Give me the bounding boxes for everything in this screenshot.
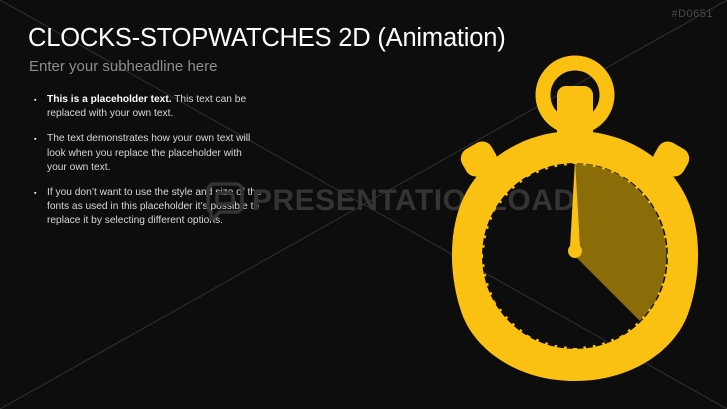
bullet-text: If you don’t want to use the style and s… <box>47 186 264 229</box>
bullet-marker-icon: ▪ <box>34 93 47 121</box>
bullet-text: This is a placeholder text. This text ca… <box>47 93 264 121</box>
bullet-lead: This is a placeholder text. <box>47 94 172 105</box>
list-item: ▪ This is a placeholder text. This text … <box>34 93 264 121</box>
stopwatch-icon <box>430 48 720 388</box>
bullet-list: ▪ This is a placeholder text. This text … <box>34 93 264 240</box>
bullet-marker-icon: ▪ <box>34 132 47 175</box>
bullet-text: The text demonstrates how your own text … <box>47 132 264 175</box>
list-item: ▪ If you don’t want to use the style and… <box>34 186 264 229</box>
bullet-marker-icon: ▪ <box>34 186 47 229</box>
document-id: #D0651 <box>671 8 713 20</box>
page-subtitle: Enter your subheadline here <box>29 58 217 75</box>
slide-canvas: #D0651 CLOCKS-STOPWATCHES 2D (Animation)… <box>0 0 727 409</box>
list-item: ▪ The text demonstrates how your own tex… <box>34 132 264 175</box>
